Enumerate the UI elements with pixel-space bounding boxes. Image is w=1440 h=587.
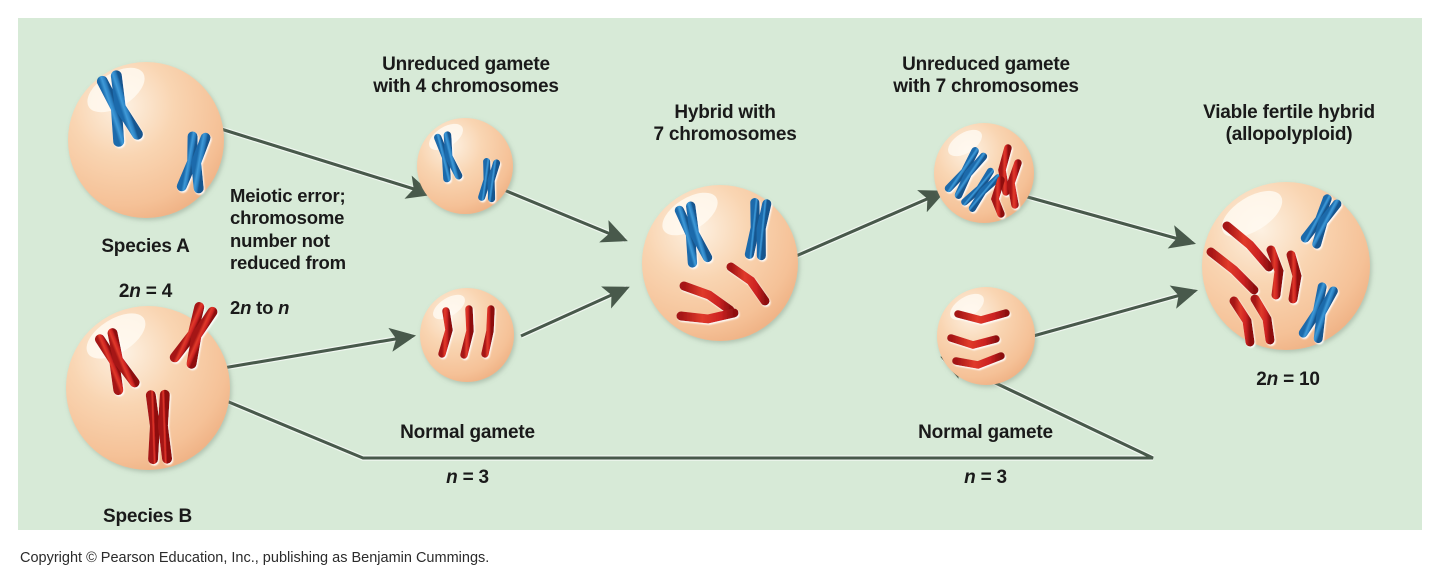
label-species-a: Species A 2n = 4 — [48, 214, 243, 326]
arrow-normal-gamete-left-to-hybrid — [521, 288, 627, 336]
arrow-normal-gamete-right-to-viable-hybrid — [1026, 291, 1195, 338]
cell-unreduced-gamete-4 — [417, 118, 513, 214]
annotation-meiotic-error-text: Meiotic error; chromosome number not red… — [230, 185, 346, 274]
label-viable-fertile-hybrid: Viable fertile hybrid (allopolyploid) — [1156, 102, 1422, 147]
annotation-meiotic-error: Meiotic error; chromosome number not red… — [230, 162, 410, 320]
diagram-panel: Species A 2n = 4 Species B 2n = 6 Meioti… — [18, 18, 1422, 530]
cell-normal-gamete-left — [420, 288, 514, 382]
cell-hybrid-7 — [642, 184, 798, 341]
arrow-hybrid-to-unreduced-gamete-7 — [796, 192, 943, 256]
cell-viable-fertile-hybrid — [1202, 182, 1370, 350]
arrow-speciesB-to-normal-gamete-left — [223, 336, 413, 368]
annotation-meiotic-error-ploidy: 2n to n — [230, 297, 289, 318]
label-viable-fertile-hybrid-ploidy: 2n = 10 — [1198, 347, 1378, 392]
label-unreduced-gamete-4: Unreduced gamete with 4 chromosomes — [333, 54, 599, 99]
label-normal-gamete-right: Normal gamete n = 3 — [888, 400, 1083, 512]
label-species-a-ploidy: 2n = 4 — [48, 281, 243, 303]
label-unreduced-gamete-7: Unreduced gamete with 7 chromosomes — [853, 54, 1119, 99]
label-species-a-title: Species A — [48, 236, 243, 258]
label-normal-gamete-right-title: Normal gamete — [888, 422, 1083, 444]
arrow-unreduced-gamete-to-hybrid — [504, 190, 625, 240]
cell-species-a — [68, 59, 224, 218]
cell-species-b — [66, 304, 230, 470]
cell-unreduced-gamete-7 — [934, 123, 1034, 223]
label-normal-gamete-left: Normal gamete n = 3 — [370, 400, 565, 512]
label-hybrid-7: Hybrid with 7 chromosomes — [635, 102, 815, 147]
label-species-b: Species B 2n = 6 — [50, 484, 245, 530]
cell-normal-gamete-right — [937, 287, 1035, 385]
label-species-b-title: Species B — [50, 506, 245, 528]
label-normal-gamete-left-ploidy: n = 3 — [370, 467, 565, 489]
arrow-unreduced7-to-viable-hybrid — [1024, 196, 1193, 243]
label-normal-gamete-right-ploidy: n = 3 — [888, 467, 1083, 489]
copyright-notice: Copyright © Pearson Education, Inc., pub… — [20, 550, 489, 566]
label-normal-gamete-left-title: Normal gamete — [370, 422, 565, 444]
